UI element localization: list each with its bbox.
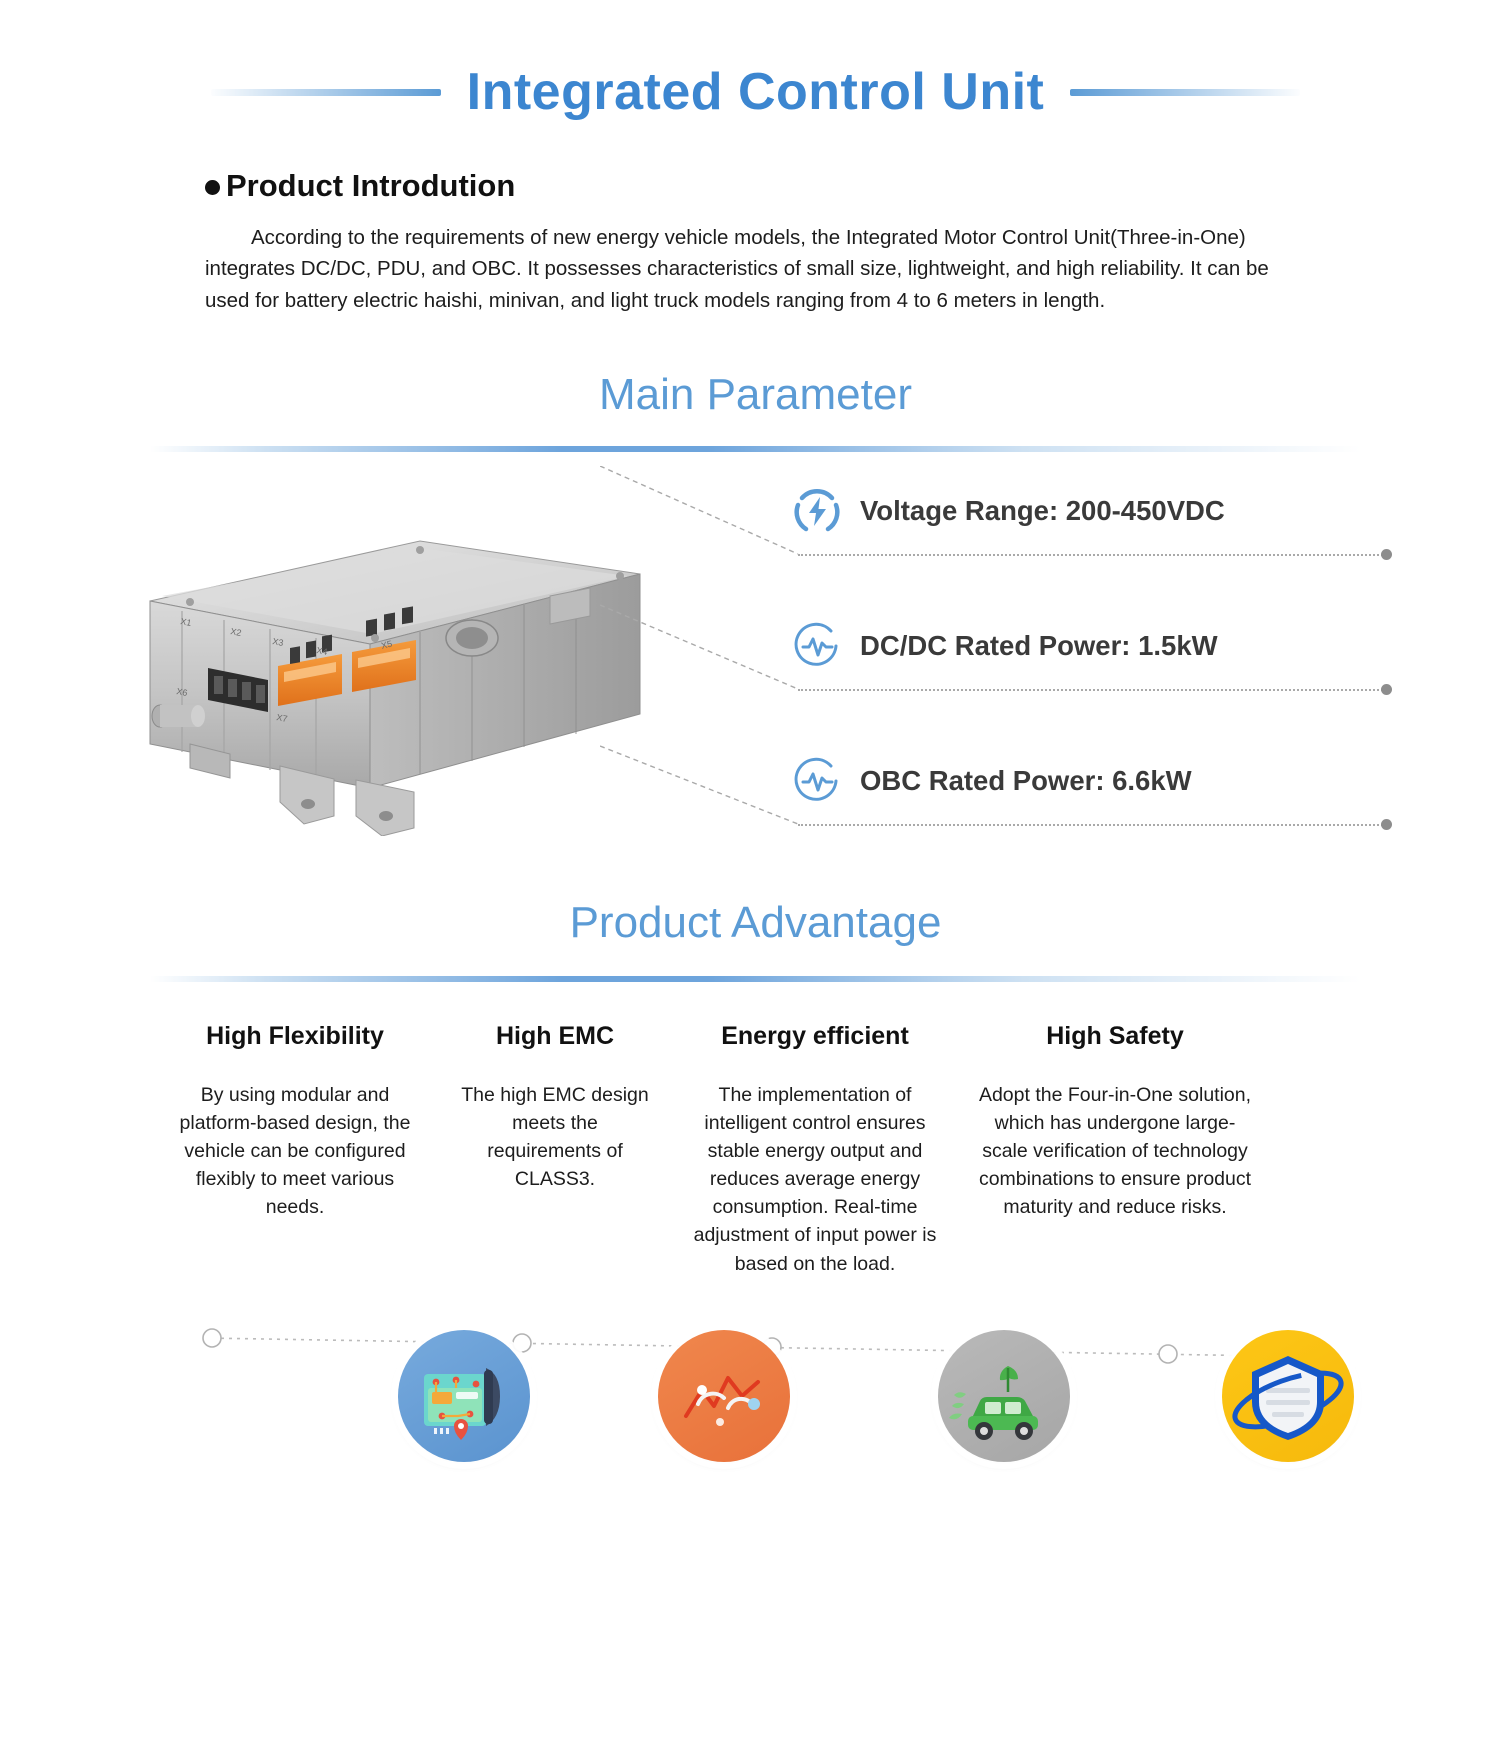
spec-label-voltage-range: Voltage Range: 200-450VDC — [860, 495, 1225, 527]
product-introduction-heading: Product Introdution — [205, 168, 1311, 204]
spec-dotted-line-dcdc — [798, 689, 1390, 691]
spec-label-obc-power: OBC Rated Power: 6.6kW — [860, 765, 1192, 797]
advantage-icon-strip — [150, 1308, 1361, 1498]
signal-chart-icon — [658, 1330, 790, 1462]
advantage-columns: High Flexibility By using modular and pl… — [150, 1022, 1361, 1278]
leader-line-voltage — [600, 466, 800, 601]
spec-row-dcdc-power: DC/DC Rated Power: 1.5kW — [790, 601, 1390, 736]
spec-dotted-line-obc — [798, 824, 1390, 826]
product-advantage-section: High Flexibility By using modular and pl… — [0, 976, 1511, 1498]
advantage-icon-slot-2 — [658, 1330, 790, 1462]
spec-dotted-line-voltage — [798, 554, 1390, 556]
page-title-row: Integrated Control Unit — [0, 62, 1511, 122]
main-parameter-block: X1 X2 X3 X4 X5 X6 X7 — [0, 458, 1511, 888]
advantage-title: Energy efficient — [684, 1022, 946, 1051]
shield-icon — [1222, 1330, 1354, 1462]
product-introduction-section: Product Introdution According to the req… — [0, 168, 1511, 316]
spec-row-voltage-range: Voltage Range: 200-450VDC — [790, 466, 1390, 601]
circuit-board-icon — [398, 1330, 530, 1462]
advantage-column-high-emc: High EMC The high EMC design meets the r… — [440, 1022, 670, 1278]
bullet-dot-icon — [205, 180, 220, 195]
leader-line-obc — [600, 736, 800, 871]
advantage-title: High Safety — [974, 1022, 1256, 1051]
spec-label-dcdc-power: DC/DC Rated Power: 1.5kW — [860, 630, 1218, 662]
advantage-column-high-flexibility: High Flexibility By using modular and pl… — [150, 1022, 440, 1278]
spec-dot-end-dcdc — [1381, 684, 1392, 695]
advantage-body: Adopt the Four-in-One solution, which ha… — [974, 1081, 1256, 1221]
spec-dot-end-voltage — [1381, 549, 1392, 560]
product-advantage-divider — [150, 976, 1361, 982]
leader-line-dcdc — [600, 601, 800, 736]
spec-row-obc-power: OBC Rated Power: 6.6kW — [790, 736, 1390, 871]
svg-text:X3: X3 — [272, 636, 285, 648]
svg-text:X6: X6 — [176, 686, 189, 698]
advantage-title: High Flexibility — [164, 1022, 426, 1051]
advantage-column-high-safety: High Safety Adopt the Four-in-One soluti… — [960, 1022, 1270, 1278]
product-image: X1 X2 X3 X4 X5 X6 X7 — [120, 516, 680, 836]
title-divider-right — [1070, 89, 1300, 96]
advantage-icon-slot-3 — [938, 1330, 1070, 1462]
main-parameter-divider — [150, 446, 1361, 452]
advantage-icon-slot-4 — [1222, 1330, 1354, 1462]
svg-text:X1: X1 — [180, 616, 193, 628]
advantage-body: By using modular and platform-based desi… — [164, 1081, 426, 1221]
advantage-title: High EMC — [454, 1022, 656, 1051]
main-parameter-heading: Main Parameter — [0, 370, 1511, 420]
advantage-body: The implementation of intelligent contro… — [684, 1081, 946, 1278]
advantage-body: The high EMC design meets the requiremen… — [454, 1081, 656, 1193]
spec-list: Voltage Range: 200-450VDC DC/DC Rated Po… — [790, 466, 1390, 871]
advantage-icon-slot-1 — [398, 1330, 530, 1462]
title-divider-left — [211, 89, 441, 96]
product-introduction-heading-label: Product Introdution — [226, 168, 515, 204]
product-introduction-body: According to the requirements of new ene… — [205, 222, 1311, 316]
advantage-column-energy-efficient: Energy efficient The implementation of i… — [670, 1022, 960, 1278]
page-title: Integrated Control Unit — [467, 62, 1045, 122]
svg-text:X2: X2 — [230, 626, 243, 638]
product-advantage-heading: Product Advantage — [0, 898, 1511, 948]
spec-dot-end-obc — [1381, 819, 1392, 830]
eco-car-icon — [938, 1330, 1070, 1462]
svg-text:X7: X7 — [276, 712, 289, 724]
svg-text:X4: X4 — [316, 645, 329, 657]
